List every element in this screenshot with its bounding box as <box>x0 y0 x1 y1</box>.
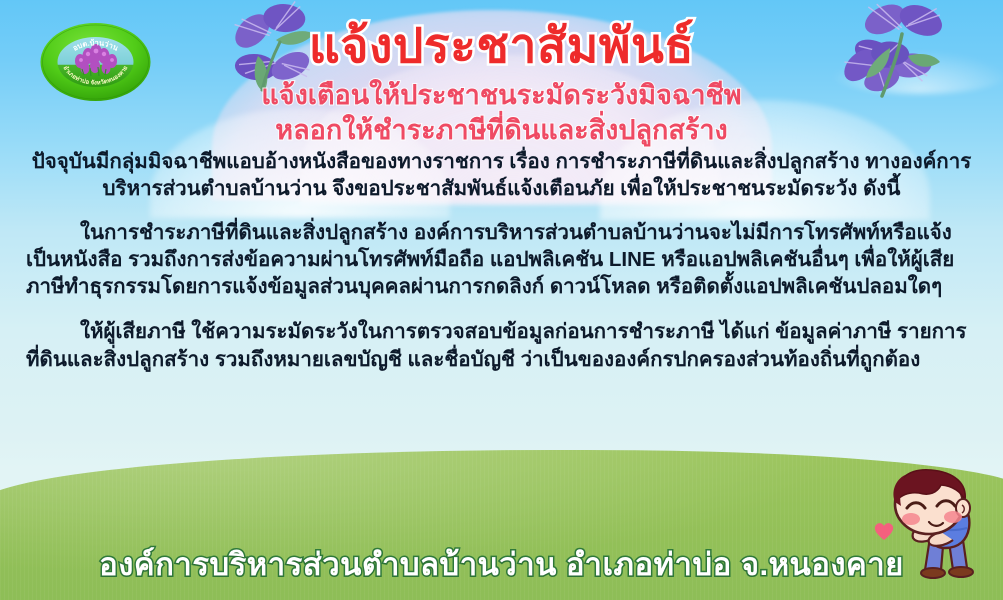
paragraph-1: ปัจจุบันมีกลุ่มมิจฉาชีพแอบอ้างหนังสือของ… <box>26 148 977 203</box>
title-block: แจ้งประชาสัมพันธ์ แจ้งเตือนให้ประชาชนระม… <box>0 22 1003 147</box>
footer-organization: องค์การบริหารส่วนตำบลบ้านว่าน อำเภอท่าบ่… <box>0 539 1003 589</box>
body-content: ปัจจุบันมีกลุ่มมิจฉาชีพแอบอ้างหนังสือของ… <box>26 148 977 373</box>
paragraph-2: ในการชำระภาษีที่ดินและสิ่งปลูกสร้าง องค์… <box>26 219 977 301</box>
page-title: แจ้งประชาสัมพันธ์ <box>0 22 1003 72</box>
subtitle-line-1: แจ้งเตือนให้ประชาชนระมัดระวังมิจฉาชีพ <box>0 78 1003 113</box>
page-subtitle: แจ้งเตือนให้ประชาชนระมัดระวังมิจฉาชีพ หล… <box>0 78 1003 147</box>
paragraph-3: ให้ผู้เสียภาษี ใช้ความระมัดระวังในการตรว… <box>26 318 977 373</box>
announcement-poster: อบต.บ้านว่าน อำเภอท่าบ่อ จังหวัดหนองคาย <box>0 0 1003 600</box>
bowing-boy-mascot <box>867 466 997 586</box>
subtitle-line-2: หลอกให้ชำระภาษีที่ดินและสิ่งปลูกสร้าง <box>0 113 1003 148</box>
